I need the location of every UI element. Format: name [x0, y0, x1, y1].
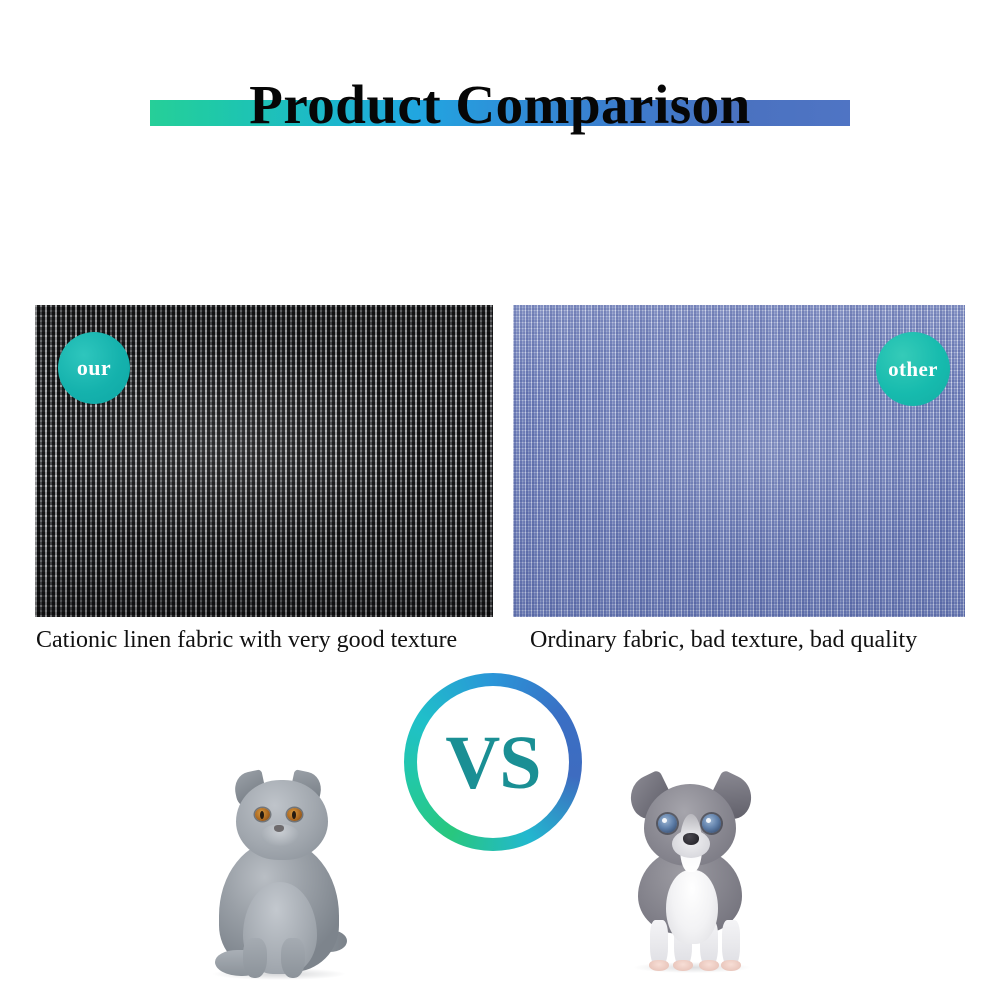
cat-front-leg-left	[243, 938, 267, 978]
dog-eye-glint-right	[706, 818, 711, 823]
dog-chest	[666, 870, 718, 944]
comparison-row: VS	[0, 305, 1000, 617]
cat-nose	[274, 825, 284, 832]
badge-other: other	[876, 332, 950, 406]
dog-paw-2	[673, 960, 693, 971]
cat-pupil-left	[260, 811, 264, 819]
dog-nose	[683, 833, 699, 845]
dog-eye-left	[658, 814, 677, 833]
pets-row	[0, 740, 1000, 1000]
page-title: Product Comparison	[0, 66, 1000, 144]
dog-paw-4	[721, 960, 741, 971]
caption-other: Ordinary fabric, bad texture, bad qualit…	[530, 624, 917, 656]
dog-photo	[608, 770, 772, 970]
dog-eye-right	[702, 814, 721, 833]
cat-photo	[205, 762, 355, 974]
badge-our: our	[58, 332, 130, 404]
page-title-block: Product Comparison	[0, 66, 1000, 146]
cat-pupil-right	[292, 811, 296, 819]
caption-ours: Cationic linen fabric with very good tex…	[36, 624, 457, 656]
cat-front-leg-right	[281, 938, 305, 978]
dog-paw-3	[699, 960, 719, 971]
dog-eye-glint-left	[662, 818, 667, 823]
cat-head	[236, 780, 328, 860]
dog-paw-1	[649, 960, 669, 971]
